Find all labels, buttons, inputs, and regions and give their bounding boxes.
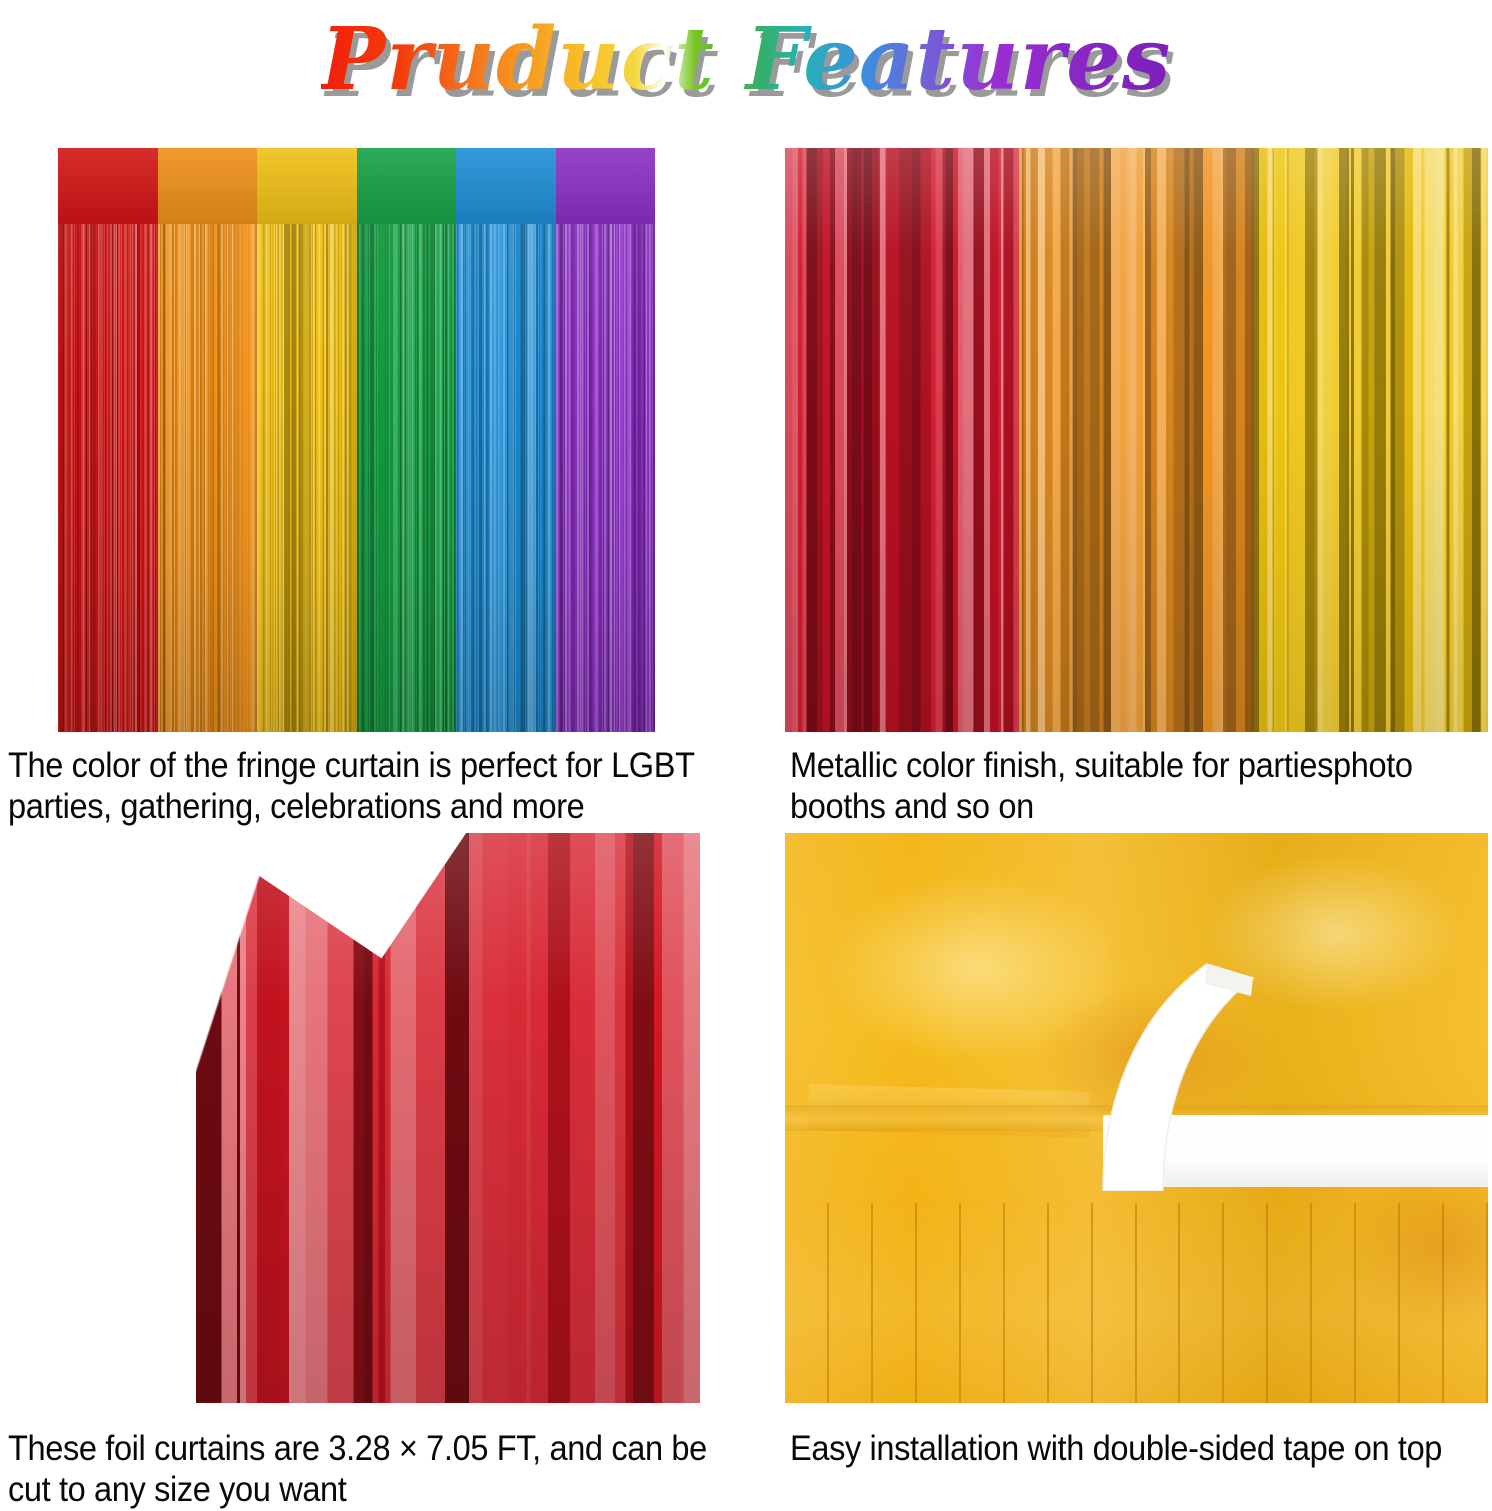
- fringe-slit: [1093, 1203, 1137, 1403]
- fringe-slit: [1137, 1203, 1181, 1403]
- curtain-band-green: [357, 148, 457, 732]
- fringe-strands-coarse: [785, 148, 1019, 732]
- fringe-slit: [1224, 1203, 1268, 1403]
- curtain-band-purple: [556, 148, 656, 732]
- fringe-slit: [1268, 1203, 1312, 1403]
- metallic-finish-closeup-photo: [785, 148, 1488, 732]
- curtain-header-strip: [456, 148, 556, 224]
- fringe-slit: [1005, 1203, 1049, 1403]
- curtain-band-orange: [158, 148, 258, 732]
- fringe-slit: [873, 1203, 917, 1403]
- fringe-slit: [961, 1203, 1005, 1403]
- caption-metallic-finish: Metallic color finish, suitable for part…: [790, 745, 1469, 828]
- fringe-strands: [158, 148, 258, 732]
- double-sided-tape-photo: [785, 833, 1488, 1403]
- page-title-text: Pruduct Features: [321, 9, 1172, 110]
- scissors-cutting-curtain-photo: [0, 833, 700, 1403]
- fringe-strands: [556, 148, 656, 732]
- curtain-band-yellow: [257, 148, 357, 732]
- fringe-slit: [1356, 1203, 1400, 1403]
- fringe-slit: [1049, 1203, 1093, 1403]
- fringe-slit: [1312, 1203, 1356, 1403]
- page-title-container: Pruduct Features Pruduct Features: [0, 6, 1492, 114]
- curtain-band-red: [58, 148, 158, 732]
- red-fringe-curtain: [196, 833, 700, 1403]
- curtain-header-strip: [357, 148, 457, 224]
- closeup-band-red: [785, 148, 1019, 732]
- fringe-strands: [357, 148, 457, 732]
- curtain-header-strip: [257, 148, 357, 224]
- fringe-slit: [785, 1203, 829, 1403]
- closeup-band-gold: [1254, 148, 1488, 732]
- foil-fringe-slits: [785, 1203, 1488, 1403]
- curtain-header-strip: [58, 148, 158, 224]
- rainbow-fringe-curtain-photo: [58, 148, 655, 732]
- fringe-strands-coarse: [1019, 148, 1253, 732]
- caption-easy-installation: Easy installation with double-sided tape…: [790, 1428, 1492, 1469]
- closeup-band-orange: [1019, 148, 1253, 732]
- curtain-header-strip: [556, 148, 656, 224]
- caption-foil-curtain-size: These foil curtains are 3.28 × 7.05 FT, …: [8, 1428, 715, 1511]
- fringe-strands: [58, 148, 158, 732]
- curtain-header-strip: [158, 148, 258, 224]
- closeup-curtain-bands: [785, 148, 1488, 732]
- fringe-strands-coarse: [1254, 148, 1488, 732]
- fringe-slit: [829, 1203, 873, 1403]
- fringe-strands: [456, 148, 556, 732]
- fringe-slit: [1400, 1203, 1444, 1403]
- curtain-band-blue: [456, 148, 556, 732]
- fringe-slit: [917, 1203, 961, 1403]
- page-title: Pruduct Features Pruduct Features: [321, 17, 1172, 103]
- fringe-strands: [257, 148, 357, 732]
- double-sided-tape-peeled-curl: [1085, 956, 1275, 1191]
- fringe-slit: [1444, 1203, 1488, 1403]
- caption-lgbt-parties: The color of the fringe curtain is perfe…: [8, 745, 761, 828]
- fringe-slit: [1180, 1203, 1224, 1403]
- rainbow-curtain-bands: [58, 148, 655, 732]
